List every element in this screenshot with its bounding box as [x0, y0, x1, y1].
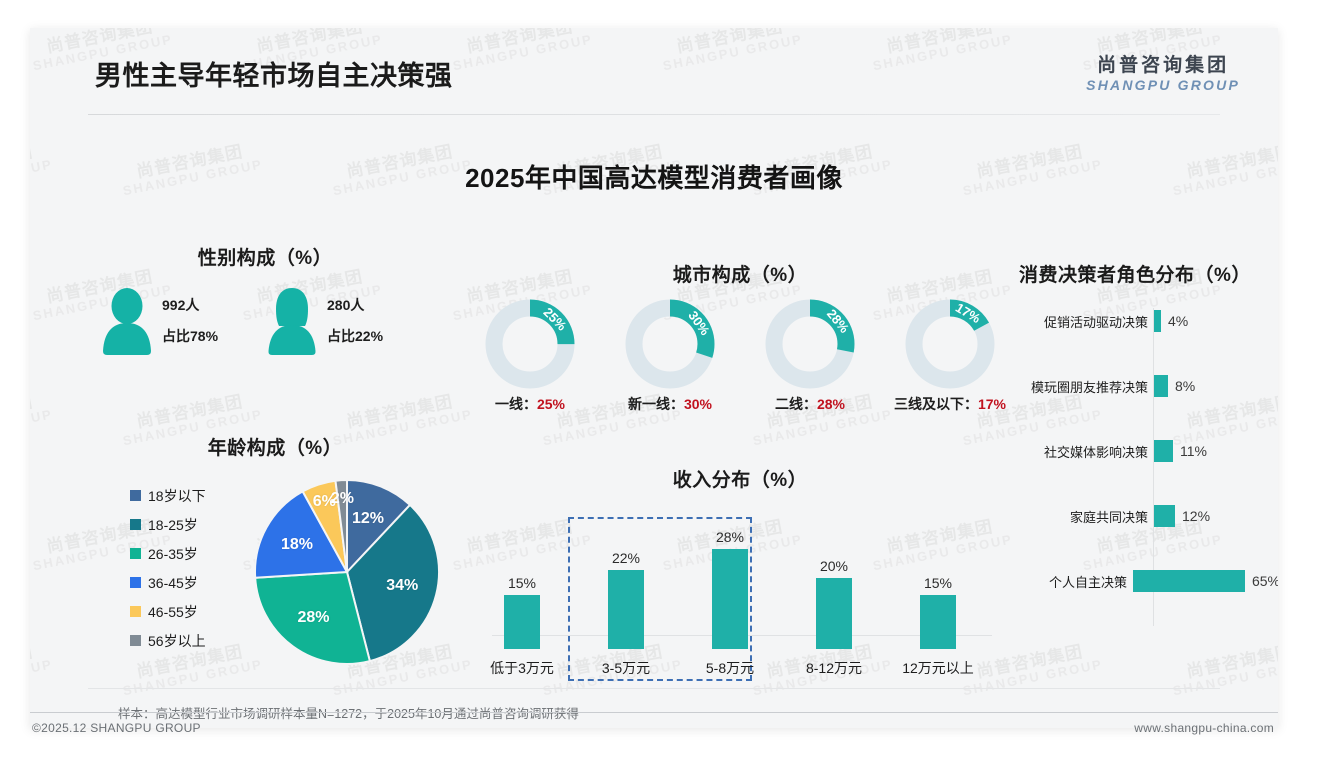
decision-bar-label: 模玩圈朋友推荐决策 [990, 377, 1154, 396]
decision-bar-value: 12% [1182, 508, 1210, 524]
income-bar-rect [712, 549, 748, 649]
city-donut-chart: 25% [484, 298, 576, 390]
brand-logo: 尚普咨询集团 SHANGPU GROUP [1086, 55, 1240, 93]
age-pie-value-label: 34% [386, 577, 418, 595]
city-label: 二线： [775, 396, 817, 412]
city-donut-caption: 一线：25% [460, 394, 600, 414]
age-legend-swatch [130, 519, 141, 530]
city-donut-row: 25%一线：25%30%新一线：30%28%二线：28%17%三线及以下：17% [460, 298, 1020, 414]
decision-bar-label: 个人自主决策 [990, 572, 1133, 591]
decision-role-section: 消费决策者角色分布（%） 促销活动驱动决策4%模玩圈朋友推荐决策8%社交媒体影响… [990, 260, 1278, 640]
age-pie-chart: 12%34%28%18%6%2% [252, 477, 442, 667]
page-title: 男性主导年轻市场自主决策强 [95, 54, 453, 93]
income-bar-column: 15%12万元以上 [886, 575, 990, 678]
city-donut-caption: 二线：28% [740, 394, 880, 414]
decision-bar-value: 8% [1175, 378, 1195, 394]
city-section-title: 城市构成（%） [460, 260, 1020, 287]
gender-composition-section: 性别构成（%） 992人 占比78% [100, 243, 430, 393]
city-donut-caption: 新一线：30% [600, 394, 740, 414]
age-pie-legend: 18岁以下18-25岁26-35岁36-45岁46-55岁56岁以上 [130, 481, 206, 655]
male-silhouette-icon [100, 285, 154, 357]
city-donut-chart: 28% [764, 298, 856, 390]
decision-bar-label: 社交媒体影响决策 [990, 442, 1154, 461]
decision-bar-rect [1154, 310, 1161, 332]
logo-english-text: SHANGPU GROUP [1086, 77, 1240, 93]
age-legend-swatch [130, 577, 141, 588]
bottom-divider [30, 712, 1278, 713]
decision-bar-label: 促销活动驱动决策 [990, 312, 1154, 331]
main-title: 2025年中国高达模型消费者画像 [30, 158, 1278, 195]
city-value: 25% [537, 396, 565, 412]
female-silhouette-icon [265, 285, 319, 357]
income-bar-value: 22% [574, 550, 678, 566]
age-legend-swatch [130, 635, 141, 646]
watermark-text: 尚普咨询集团SHANGPU GROUP [30, 640, 54, 698]
decision-bar-row: 家庭共同决策12% [990, 503, 1278, 529]
city-donut-chart: 30% [624, 298, 716, 390]
income-bar-column: 15%低于3万元 [470, 575, 574, 678]
age-pie-value-label: 12% [352, 510, 384, 528]
decision-bar-value: 4% [1168, 313, 1188, 329]
income-bar-category: 5-8万元 [678, 658, 782, 678]
income-bar-category: 3-5万元 [574, 658, 678, 678]
income-bar-value: 15% [470, 575, 574, 591]
age-legend-item: 56岁以上 [130, 626, 206, 655]
income-bar-rect [608, 570, 644, 649]
income-bar-value: 20% [782, 558, 886, 574]
decision-bar-row: 个人自主决策65% [990, 568, 1278, 594]
income-bar-category: 低于3万元 [470, 658, 574, 678]
gender-male-count: 992人 [162, 290, 218, 321]
gender-female-count: 280人 [327, 290, 383, 321]
decision-bar-row: 模玩圈朋友推荐决策8% [990, 373, 1278, 399]
city-label: 三线及以下： [894, 396, 978, 412]
income-bar-category: 12万元以上 [886, 658, 990, 678]
age-legend-label: 46-55岁 [148, 602, 198, 622]
age-legend-swatch [130, 548, 141, 559]
city-donut-item: 30%新一线：30% [600, 298, 740, 414]
city-donut-chart: 17% [904, 298, 996, 390]
income-distribution-section: 收入分布（%） 15%低于3万元22%3-5万元28%5-8万元20%8-12万… [470, 465, 1010, 690]
income-bar-rect [816, 578, 852, 649]
city-label: 一线： [495, 396, 537, 412]
decision-bar-row: 促销活动驱动决策4% [990, 308, 1278, 334]
age-pie-wrap: 18岁以下18-25岁26-35岁36-45岁46-55岁56岁以上 12%34… [100, 477, 450, 677]
age-legend-item: 18岁以下 [130, 481, 206, 510]
logo-chinese-text: 尚普咨询集团 [1086, 55, 1240, 77]
income-bar-chart: 15%低于3万元22%3-5万元28%5-8万元20%8-12万元15%12万元… [470, 513, 1010, 678]
age-legend-item: 18-25岁 [130, 510, 206, 539]
footnote-divider [88, 688, 1220, 689]
age-legend-label: 18岁以下 [148, 486, 206, 506]
city-composition-section: 城市构成（%） 25%一线：25%30%新一线：30%28%二线：28%17%三… [460, 260, 1020, 400]
income-bar-column: 22%3-5万元 [574, 550, 678, 678]
age-legend-item: 46-55岁 [130, 597, 206, 626]
watermark-text: 尚普咨询集团SHANGPU GROUP [1168, 640, 1278, 698]
gender-male-share: 占比78% [162, 321, 218, 352]
decision-bar-rect [1133, 570, 1245, 592]
header: 男性主导年轻市场自主决策强 尚普咨询集团 SHANGPU GROUP [30, 28, 1278, 114]
gender-male-text: 992人 占比78% [162, 290, 218, 352]
gender-section-title: 性别构成（%） [100, 243, 430, 270]
decision-section-title: 消费决策者角色分布（%） [990, 260, 1278, 287]
infographic-card: 尚普咨询集团SHANGPU GROUP尚普咨询集团SHANGPU GROUP尚普… [30, 28, 1278, 728]
decision-bar-label: 家庭共同决策 [990, 507, 1154, 526]
decision-bar-rect [1154, 505, 1175, 527]
age-legend-item: 36-45岁 [130, 568, 206, 597]
decision-bar-rect [1154, 440, 1173, 462]
age-legend-swatch [130, 490, 141, 501]
income-bar-category: 8-12万元 [782, 658, 886, 678]
income-bar-column: 28%5-8万元 [678, 529, 782, 678]
city-donut-item: 28%二线：28% [740, 298, 880, 414]
income-bar-rect [504, 595, 540, 649]
decision-bar-value: 11% [1180, 443, 1207, 459]
header-divider [88, 114, 1220, 115]
city-donut-item: 25%一线：25% [460, 298, 600, 414]
gender-row: 992人 占比78% 280人 占比22% [100, 285, 430, 357]
income-bar-value: 15% [886, 575, 990, 591]
age-legend-item: 26-35岁 [130, 539, 206, 568]
age-pie-value-label: 28% [297, 609, 329, 627]
copyright-text: ©2025.12 SHANGPU GROUP [32, 721, 201, 735]
income-bar-column: 20%8-12万元 [782, 558, 886, 678]
city-label: 新一线： [628, 396, 684, 412]
gender-item-male: 992人 占比78% [100, 285, 265, 357]
age-pie-value-label: 2% [331, 490, 354, 508]
income-section-title: 收入分布（%） [470, 465, 1010, 492]
website-url[interactable]: www.shangpu-china.com [1134, 721, 1274, 735]
age-composition-section: 年龄构成（%） 18岁以下18-25岁26-35岁36-45岁46-55岁56岁… [100, 433, 450, 683]
watermark-text: 尚普咨询集团SHANGPU GROUP [30, 390, 54, 448]
age-legend-label: 18-25岁 [148, 515, 198, 535]
age-legend-label: 36-45岁 [148, 573, 198, 593]
bottom-bar: ©2025.12 SHANGPU GROUP www.shangpu-china… [30, 712, 1278, 742]
age-legend-label: 56岁以上 [148, 631, 206, 651]
age-legend-swatch [130, 606, 141, 617]
decision-bar-chart: 促销活动驱动决策4%模玩圈朋友推荐决策8%社交媒体影响决策11%家庭共同决策12… [990, 302, 1278, 632]
age-legend-label: 26-35岁 [148, 544, 198, 564]
city-value: 30% [684, 396, 712, 412]
city-value: 28% [817, 396, 845, 412]
decision-bar-rect [1154, 375, 1168, 397]
gender-female-text: 280人 占比22% [327, 290, 383, 352]
age-section-title: 年龄构成（%） [100, 433, 450, 460]
income-bar-value: 28% [678, 529, 782, 545]
gender-female-share: 占比22% [327, 321, 383, 352]
decision-bar-row: 社交媒体影响决策11% [990, 438, 1278, 464]
income-bar-rect [920, 595, 956, 649]
age-pie-value-label: 18% [281, 536, 313, 554]
gender-item-female: 280人 占比22% [265, 285, 430, 357]
decision-bar-value: 65% [1252, 573, 1278, 589]
